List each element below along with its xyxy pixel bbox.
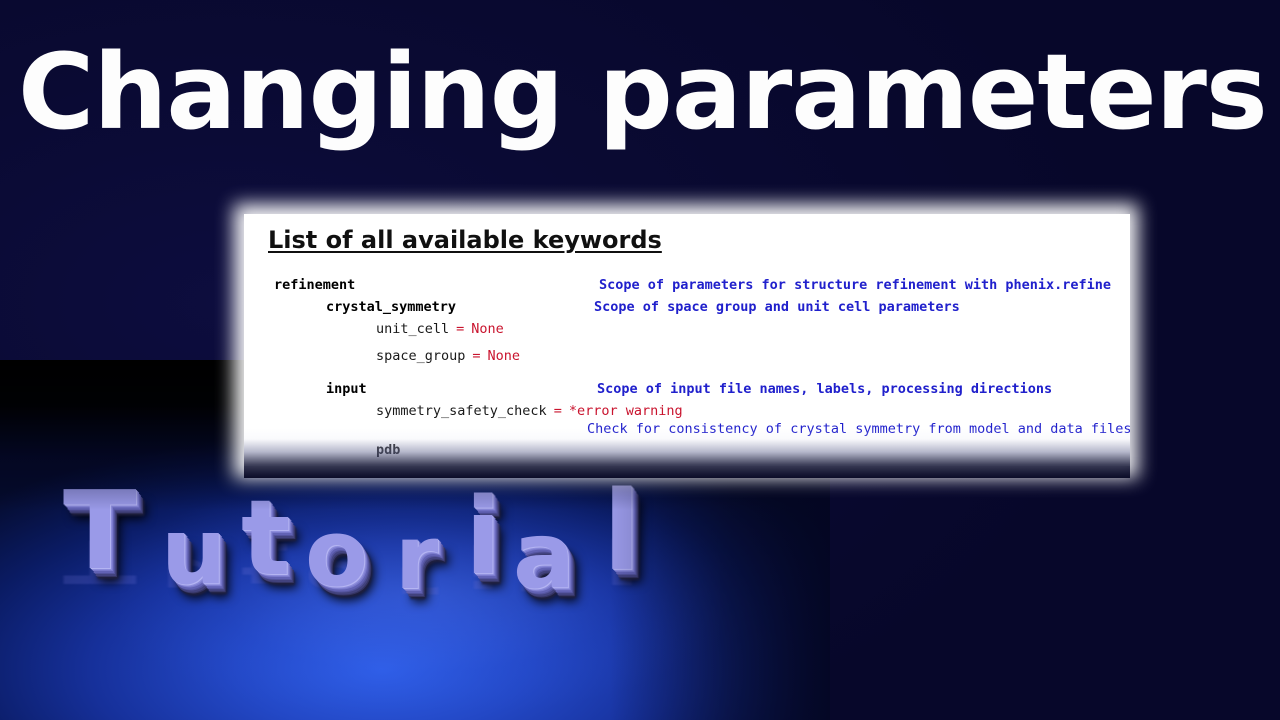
code-line-input: input <box>326 381 367 397</box>
slide-title: Changing parameters <box>18 36 1262 148</box>
keyword-listing: refinement Scope of parameters for struc… <box>244 214 1130 466</box>
param-unit-cell: unit_cell <box>376 321 449 337</box>
equals-symmetry-safety-check: = <box>547 403 562 419</box>
tutorial-letter-a: a <box>513 510 573 602</box>
doc-refinement: Scope of parameters for structure refine… <box>599 277 1111 293</box>
keyword-pdb: pdb <box>376 442 400 458</box>
code-line-file-name: file_name=NoneModel file(s) name (PDB) <box>429 464 778 466</box>
code-line-crystal-symmetry: crystal_symmetry <box>326 299 456 315</box>
code-line-pdb: pdb <box>376 442 400 458</box>
tutorial-letter-u: u <box>161 506 225 598</box>
code-line-symmetry-safety-check: symmetry_safety_check=*error warning <box>376 403 683 419</box>
tutorial-letter-r: r <box>395 514 436 602</box>
equals-unit-cell: = <box>449 321 464 337</box>
doc-symmetry-safety-check: Check for consistency of crystal symmetr… <box>587 421 1130 437</box>
code-line-unit-cell: unit_cell=None <box>376 321 504 337</box>
tutorial-letter-o: o <box>305 508 366 600</box>
value-space-group: None <box>481 348 521 364</box>
doc-input: Scope of input file names, labels, proce… <box>597 381 1052 397</box>
value-file-name: None <box>517 464 557 466</box>
keyword-crystal-symmetry: crystal_symmetry <box>326 299 456 315</box>
doc-file-name: Model file(s) name (PDB) <box>557 464 778 466</box>
equals-space-group: = <box>465 348 480 364</box>
value-symmetry-safety-check: *error warning <box>562 403 683 419</box>
param-symmetry-safety-check: symmetry_safety_check <box>376 403 547 419</box>
keywords-panel: List of all available keywords refinemen… <box>240 210 1132 472</box>
value-unit-cell: None <box>464 321 504 337</box>
doc-crystal-symmetry: Scope of space group and unit cell param… <box>594 299 960 315</box>
code-line-refinement: refinement <box>274 277 355 293</box>
panel-body: List of all available keywords refinemen… <box>244 214 1130 466</box>
equals-file-name: = <box>502 464 517 466</box>
param-space-group: space_group <box>376 348 465 364</box>
slide-root: T u t o r i a l T u t o r i a l Changing… <box>0 0 1280 720</box>
param-file-name: file_name <box>429 464 502 466</box>
keyword-refinement: refinement <box>274 277 355 293</box>
keyword-input: input <box>326 381 367 397</box>
code-line-space-group: space_group=None <box>376 348 520 364</box>
